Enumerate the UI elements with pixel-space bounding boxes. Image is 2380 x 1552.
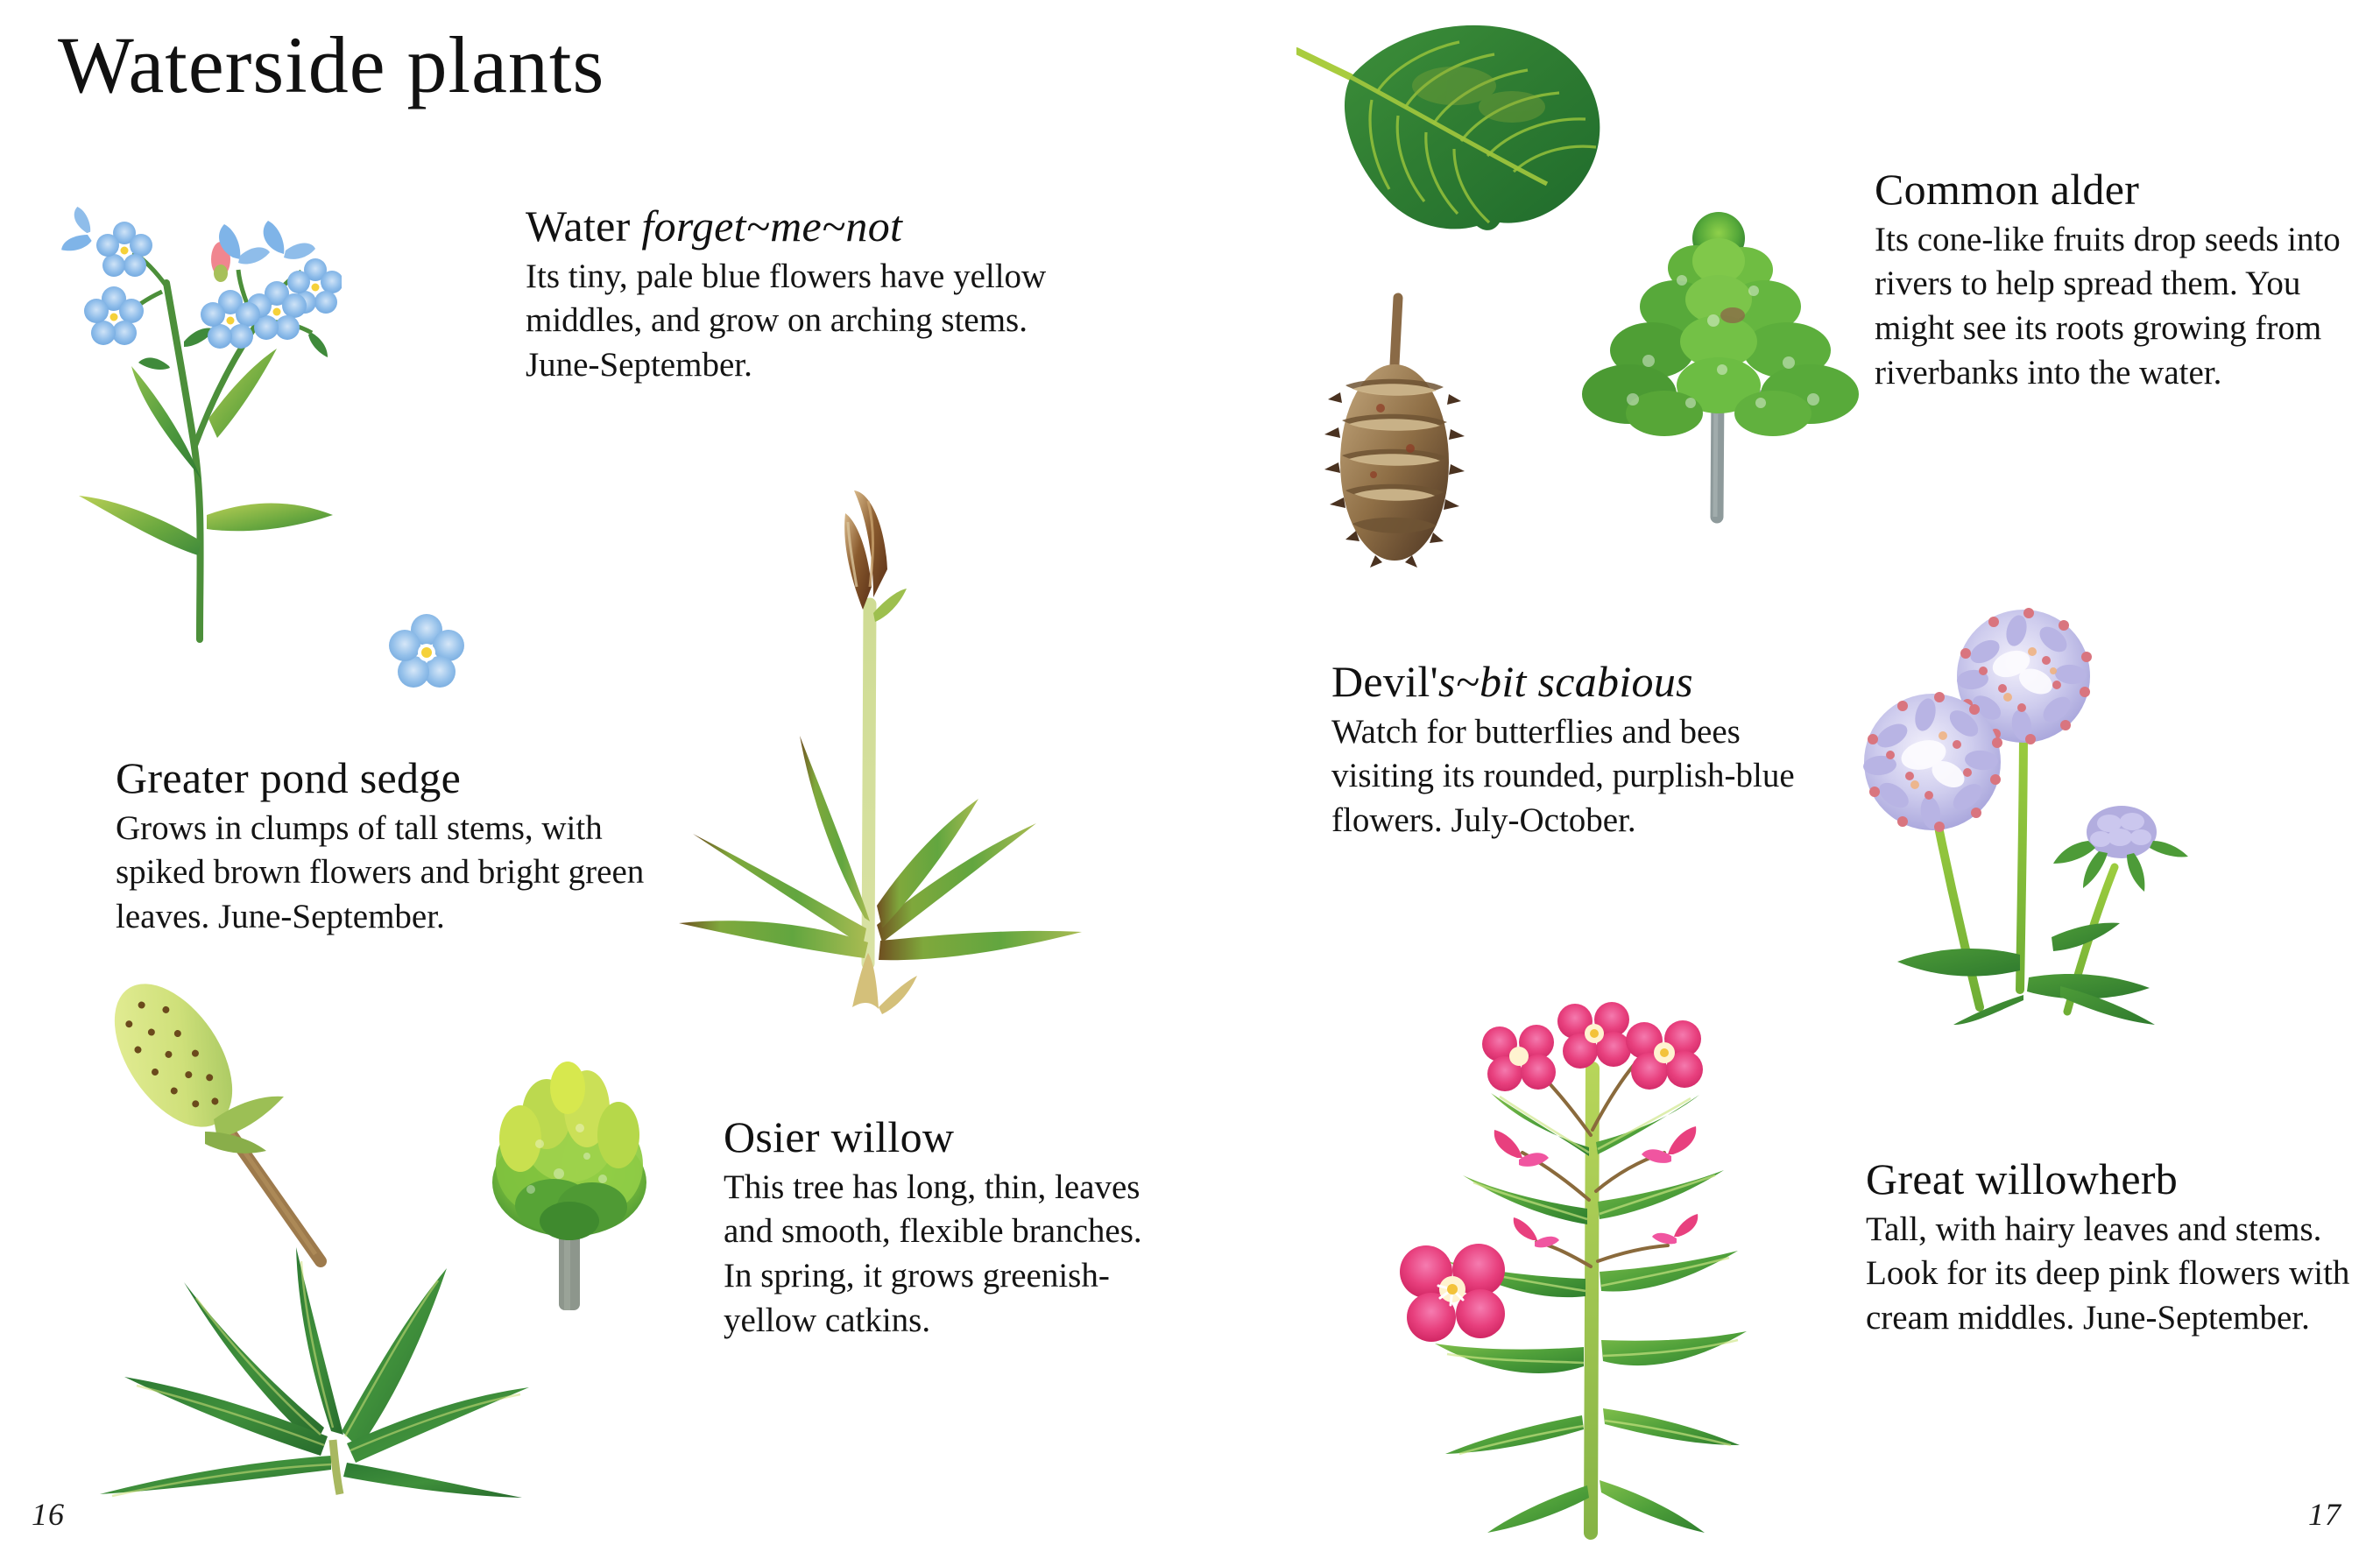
- osier-willow-illustration: [456, 1033, 683, 1323]
- entry-devils-bit-scabious: Devil's~bit scabious Watch for butterfli…: [1331, 659, 1840, 843]
- entry-body: This tree has long, thin, leaves and smo…: [724, 1166, 1162, 1344]
- entry-heading: Devil's~bit scabious: [1331, 659, 1840, 705]
- entry-heading-plain: Great willowherb: [1866, 1154, 2178, 1203]
- page-number-left: 16: [32, 1496, 65, 1533]
- entry-heading-plain: Greater pond sedge: [116, 753, 461, 802]
- entry-body: Tall, with hairy leaves and stems. Look …: [1866, 1208, 2356, 1341]
- entry-heading-italic: s~bit scabious: [1438, 657, 1693, 706]
- entry-heading: Greater pond sedge: [116, 755, 659, 801]
- entry-body: Grows in clumps of tall stems, with spik…: [116, 807, 659, 940]
- entry-body: Its tiny, pale blue flowers have yellow …: [526, 255, 1086, 388]
- forget-me-not-illustration: [53, 103, 342, 646]
- entry-heading-italic: forget~me~not: [641, 201, 902, 250]
- entry-heading: Great willowherb: [1866, 1156, 2356, 1203]
- entry-heading: Osier willow: [724, 1114, 1162, 1160]
- entry-osier-willow: Osier willow This tree has long, thin, l…: [724, 1114, 1162, 1343]
- page-number-right: 17: [2308, 1496, 2341, 1533]
- entry-heading-plain: Common alder: [1875, 165, 2139, 214]
- entry-common-alder: Common alder Its cone-like fruits drop s…: [1875, 166, 2348, 395]
- willowherb-flower-closeup: [1382, 1226, 1522, 1358]
- entry-body: Its cone-like fruits drop seeds into riv…: [1875, 218, 2348, 396]
- entry-heading-plain: Osier willow: [724, 1112, 954, 1161]
- alder-tree-illustration: [1550, 140, 1892, 543]
- entry-heading: Water forget~me~not: [526, 203, 1086, 250]
- entry-water-forget-me-not: Water forget~me~not Its tiny, pale blue …: [526, 203, 1086, 388]
- alder-cone-illustration: [1314, 280, 1480, 578]
- page-title: Waterside plants: [58, 25, 604, 105]
- book-spread: Waterside plants: [0, 0, 2380, 1552]
- forget-me-not-flower-closeup: [378, 604, 475, 701]
- pond-sedge-illustration: [644, 438, 1108, 1042]
- entry-body: Watch for butterflies and bees visiting …: [1331, 710, 1840, 843]
- entry-heading-plain: Water: [526, 201, 641, 250]
- scabious-illustration: [1848, 464, 2234, 1025]
- entry-great-willowherb: Great willowherb Tall, with hairy leaves…: [1866, 1156, 2356, 1341]
- entry-greater-pond-sedge: Greater pond sedge Grows in clumps of ta…: [116, 755, 659, 940]
- entry-heading: Common alder: [1875, 166, 2348, 213]
- entry-heading-plain: Devil': [1331, 657, 1438, 706]
